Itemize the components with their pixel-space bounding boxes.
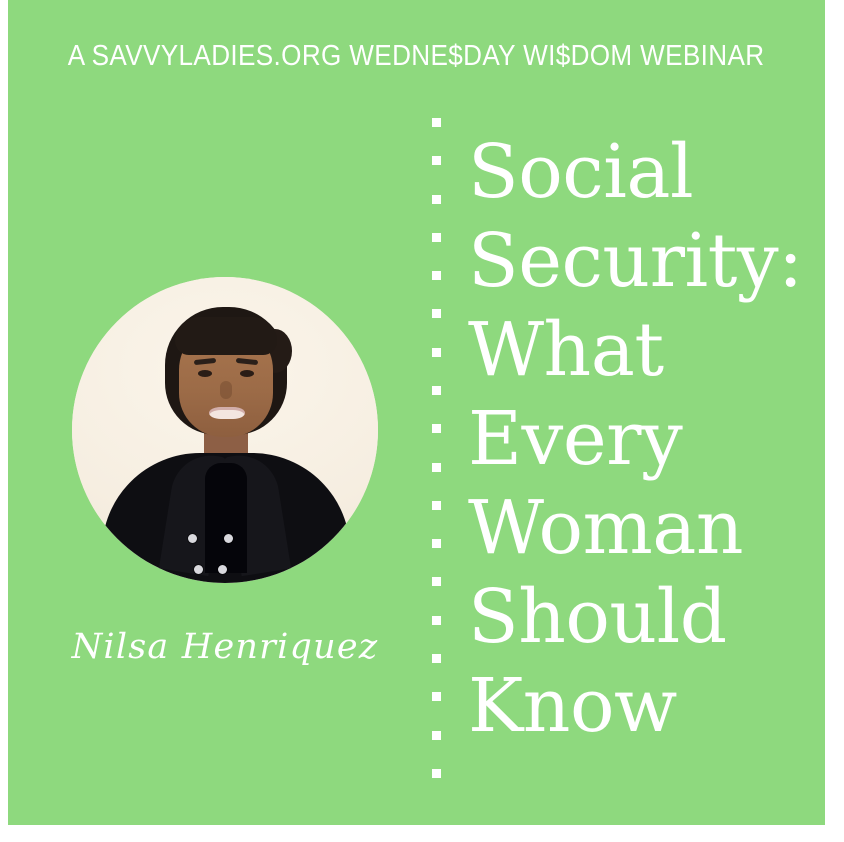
photo-blazer-button	[194, 565, 203, 574]
photo-mouth	[209, 407, 245, 419]
photo-blazer-button	[188, 534, 197, 543]
webinar-promo-graphic: A SAVVYLADIES.ORG WEDNE$DAY WI$DOM WEBIN…	[0, 0, 844, 842]
photo-hairline	[175, 317, 277, 355]
divider-dot-icon	[432, 271, 441, 280]
title-line: Every	[468, 395, 824, 484]
title-line: Should	[468, 573, 824, 662]
speaker-column: Nilsa Henriquez	[8, 110, 430, 790]
divider-dot-icon	[432, 463, 441, 472]
divider-dot-icon	[432, 539, 441, 548]
title-line: Social	[468, 128, 824, 217]
divider-dot-icon	[432, 616, 441, 625]
page-title: Social Security: What Every Woman Should…	[468, 128, 824, 751]
avatar	[72, 277, 378, 583]
divider-dot-icon	[432, 118, 441, 127]
divider-dot-icon	[432, 309, 441, 318]
divider-dot-icon	[432, 156, 441, 165]
title-line: Know	[468, 662, 824, 751]
divider-dot-icon	[432, 424, 441, 433]
divider-dot-icon	[432, 348, 441, 357]
divider-dot-icon	[432, 501, 441, 510]
divider-dot-icon	[432, 577, 441, 586]
divider-dot-icon	[432, 769, 441, 778]
header-banner: A SAVVYLADIES.ORG WEDNE$DAY WI$DOM WEBIN…	[8, 34, 825, 78]
green-panel: A SAVVYLADIES.ORG WEDNE$DAY WI$DOM WEBIN…	[8, 0, 825, 825]
photo-nose	[220, 381, 232, 399]
photo-inner-shirt	[205, 463, 247, 573]
title-line: Woman	[468, 484, 824, 573]
divider-dot-icon	[432, 386, 441, 395]
divider-dot-icon	[432, 731, 441, 740]
title-line: Security:	[468, 217, 824, 306]
photo-blazer-button	[218, 565, 227, 574]
divider-dot-icon	[432, 654, 441, 663]
dotted-vertical-divider	[430, 118, 442, 778]
header-eyebrow-text: A SAVVYLADIES.ORG WEDNE$DAY WI$DOM WEBIN…	[68, 42, 765, 71]
speaker-name: Nilsa Henriquez	[8, 630, 442, 665]
divider-dot-icon	[432, 233, 441, 242]
title-line: What	[468, 306, 824, 395]
photo-blazer-button	[224, 534, 233, 543]
divider-dot-icon	[432, 692, 441, 701]
photo-eye-right	[240, 370, 254, 377]
photo-eye-left	[198, 370, 212, 377]
divider-dot-icon	[432, 195, 441, 204]
